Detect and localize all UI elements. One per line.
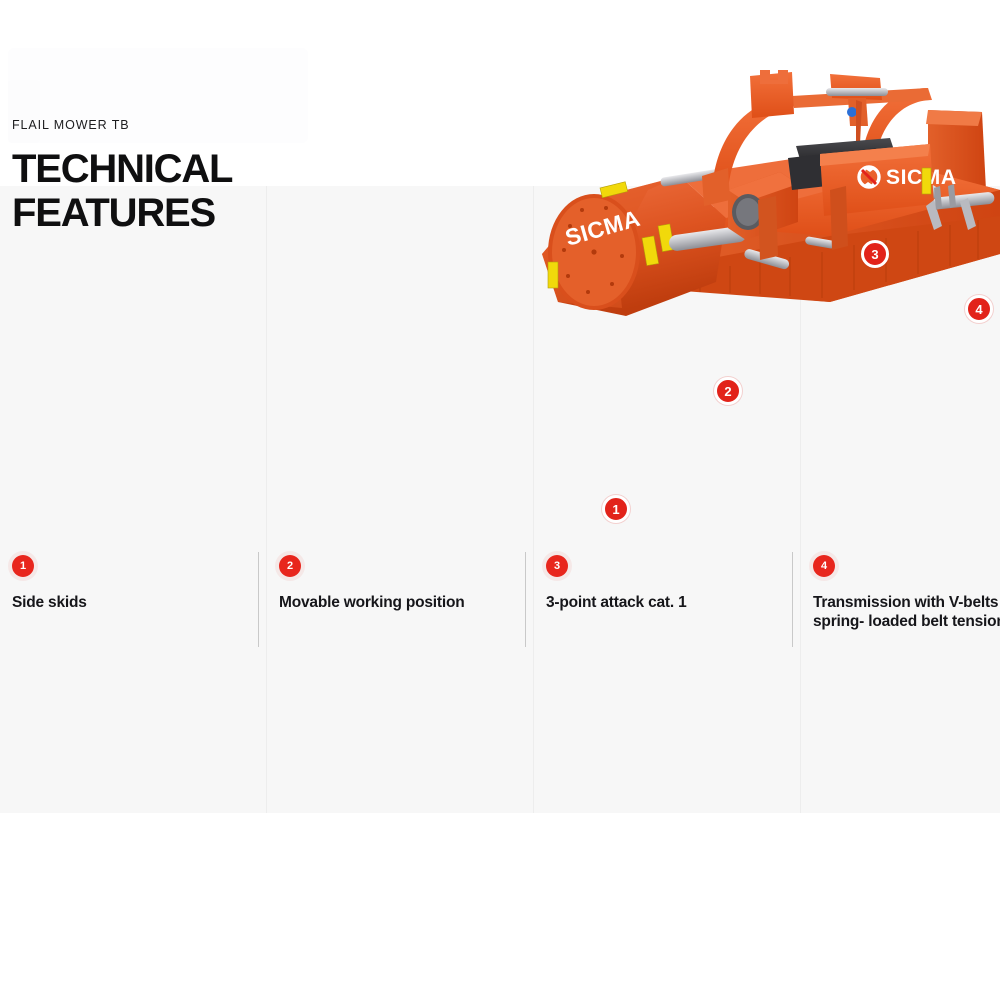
feature-label-4: Transmission with V-belts and spring- lo… <box>813 593 1000 631</box>
feature-column-3: 3 3-point attack cat. 1 <box>534 186 801 813</box>
feature-item-3: 3 3-point attack cat. 1 <box>546 555 764 612</box>
feature-label-1: Side skids <box>12 593 230 612</box>
feature-number-badge-1: 1 <box>12 555 34 577</box>
feature-item-4: 4 Transmission with V-belts and spring- … <box>813 555 1000 631</box>
feature-column-1: 1 Side skids <box>0 186 267 813</box>
feature-number-badge-3: 3 <box>546 555 568 577</box>
feature-number-badge-2: 2 <box>279 555 301 577</box>
page-title-line1: TECHNICAL <box>12 147 232 191</box>
feature-rule-3 <box>525 552 526 647</box>
feature-column-2: 2 Movable working position <box>267 186 534 813</box>
feature-label-3: 3-point attack cat. 1 <box>546 593 764 612</box>
feature-label-2: Movable working position <box>279 593 497 612</box>
feature-rule-2 <box>258 552 259 647</box>
feature-column-4: 4 Transmission with V-belts and spring- … <box>801 186 1000 813</box>
feature-item-2: 2 Movable working position <box>279 555 497 612</box>
feature-number-badge-4: 4 <box>813 555 835 577</box>
eyebrow-label: FLAIL MOWER TB <box>12 118 262 132</box>
feature-rule-4 <box>792 552 793 647</box>
page-root: FLAIL MOWER TB TECHNICAL FEATURES <box>0 0 1000 1000</box>
feature-columns: 1 Side skids 2 Movable working position … <box>0 186 1000 813</box>
feature-item-1: 1 Side skids <box>12 555 230 612</box>
